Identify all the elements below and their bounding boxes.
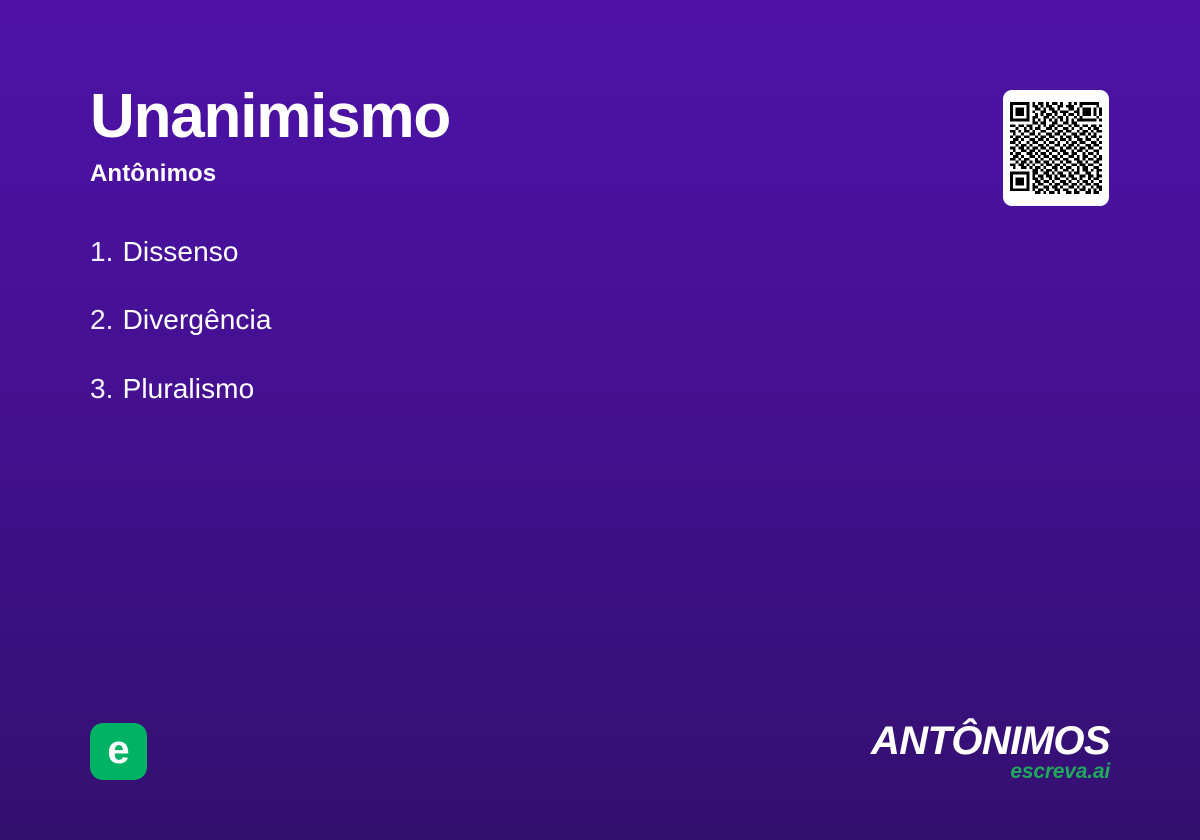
antonym-list: 1.Dissenso2.Divergência3.Pluralismo <box>90 236 930 441</box>
antonym-term: Pluralismo <box>123 373 255 404</box>
qr-code-icon <box>1010 102 1102 194</box>
escreva-logo-badge[interactable]: e <box>90 723 147 780</box>
footer-logo-subtitle: escreva.ai <box>871 761 1110 782</box>
category-label: Antônimos <box>90 160 910 189</box>
antonym-item: 3.Pluralismo <box>90 373 930 404</box>
antonym-item: 1.Dissenso <box>90 236 930 267</box>
antonyms-card: Unanimismo Antônimos 1.Dissenso2.Divergê… <box>0 0 1200 840</box>
antonym-index: 2. <box>90 304 114 335</box>
word-block: Unanimismo Antônimos <box>90 84 910 189</box>
badge-letter: e <box>107 730 129 770</box>
qr-code-panel[interactable] <box>1003 90 1109 206</box>
antonym-term: Divergência <box>123 304 272 335</box>
antonym-index: 3. <box>90 373 114 404</box>
antonym-item: 2.Divergência <box>90 304 930 335</box>
page-title: Unanimismo <box>90 84 910 150</box>
footer-logo-title: ANTÔNIMOS <box>871 722 1110 760</box>
footer-logo: ANTÔNIMOS escreva.ai <box>871 722 1110 782</box>
antonym-term: Dissenso <box>123 236 239 267</box>
antonym-index: 1. <box>90 236 114 267</box>
